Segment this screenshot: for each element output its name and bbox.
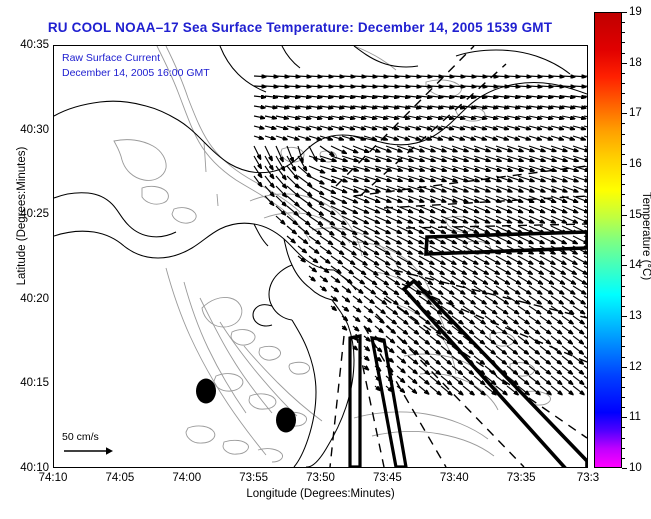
current-vector-arrow — [584, 306, 587, 314]
radar-station-marker — [276, 408, 296, 433]
x-tick-label: 73:45 — [373, 472, 402, 484]
x-axis-title: Longitude (Degrees:Minutes) — [53, 488, 588, 500]
current-vector-arrow — [298, 176, 312, 186]
current-vector-arrow — [375, 106, 388, 108]
current-vector-arrow — [573, 136, 585, 140]
current-vector-arrow — [397, 106, 410, 108]
current-vector-arrow — [342, 136, 354, 140]
current-vector-arrow — [309, 256, 318, 263]
x-tick-label: 73:3 — [577, 472, 599, 484]
arrow-right-icon — [62, 443, 118, 459]
current-vector-arrow — [397, 366, 405, 373]
current-vector-arrow — [584, 296, 587, 304]
current-vector-arrow — [529, 276, 543, 284]
current-vector-arrow — [551, 336, 561, 344]
figure-root: RU COOL NOAA–17 Sea Surface Temperature:… — [0, 0, 651, 519]
current-vector-arrow — [452, 136, 464, 140]
x-tick-label: 74:10 — [39, 472, 68, 484]
current-vector-arrow — [584, 386, 587, 395]
current-vector-arrow — [320, 126, 333, 129]
current-vector-arrow — [529, 296, 541, 304]
current-vector-arrow — [551, 136, 563, 140]
current-vector-arrow — [298, 246, 306, 253]
current-vector-arrow — [287, 136, 299, 140]
colorbar-minor-tick — [622, 245, 625, 246]
current-vector-arrow — [562, 116, 575, 119]
current-vector-arrow — [364, 346, 369, 351]
current-vector-arrow — [540, 126, 553, 129]
current-vector-arrow — [320, 146, 334, 156]
current-vector-arrow — [397, 266, 411, 275]
colorbar-minor-tick — [622, 123, 625, 124]
colorbar-minor-tick — [622, 458, 625, 459]
current-vector-arrow — [320, 226, 334, 235]
current-vector-arrow — [375, 96, 388, 97]
colorbar-minor-tick — [622, 448, 625, 449]
current-vector-arrow — [287, 126, 300, 129]
map-panel[interactable]: Raw Surface Current December 14, 2005 16… — [53, 45, 588, 468]
colorbar-tick-mark — [622, 468, 627, 469]
colorbar-minor-tick — [622, 154, 625, 155]
current-vector-arrow — [496, 286, 509, 294]
current-vector-arrow — [540, 296, 552, 304]
colorbar-minor-tick — [622, 438, 625, 439]
y-tick-label: 40:35 — [20, 39, 49, 51]
current-vector-arrow — [331, 276, 340, 282]
current-vector-arrow — [276, 116, 288, 119]
current-vector-arrow — [265, 126, 276, 129]
current-vector-arrow — [265, 106, 277, 108]
current-vector-arrow — [485, 126, 498, 129]
current-vector-arrow — [529, 116, 542, 119]
current-vector-arrow — [386, 106, 399, 108]
x-axis-ticks: 74:10 74:05 74:00 73:55 73:50 73:45 73:4… — [53, 470, 588, 490]
colorbar-minor-tick — [622, 103, 625, 104]
current-vector-arrow — [408, 106, 421, 108]
colorbar-minor-tick — [622, 377, 625, 378]
current-vector-arrow — [309, 116, 322, 119]
current-vector-arrow — [518, 116, 531, 119]
current-vector-arrow — [474, 306, 486, 314]
current-vector-arrow — [364, 96, 377, 97]
colorbar-tick-label: 11 — [629, 411, 641, 423]
current-vector-arrow — [320, 96, 333, 97]
current-vector-arrow — [364, 126, 377, 129]
current-vector-arrow — [584, 366, 587, 374]
current-vector-arrow — [397, 96, 410, 97]
current-vector-arrow — [496, 296, 508, 304]
current-vector-arrow — [507, 336, 517, 344]
current-vector-arrow — [331, 286, 338, 292]
current-vector-arrow — [540, 356, 550, 364]
current-vector-arrow — [441, 346, 451, 354]
vector-scale-label: 50 cm/s — [62, 431, 118, 443]
current-vector-arrow — [584, 356, 587, 364]
current-vector-arrow — [254, 96, 266, 97]
current-vector-arrow — [562, 336, 572, 344]
current-vector-arrow — [584, 346, 587, 354]
current-vector-arrow — [518, 316, 529, 324]
current-vector-arrow — [529, 326, 540, 334]
current-vector-arrow — [397, 296, 409, 304]
current-vector-arrow — [518, 126, 531, 129]
current-vector-arrow — [309, 146, 317, 161]
current-vector-arrow — [573, 386, 584, 395]
current-vector-arrow — [386, 316, 396, 324]
current-vector-arrow — [573, 106, 586, 108]
current-vector-arrow — [485, 116, 498, 119]
current-vector-arrow — [309, 276, 315, 281]
current-vector-arrow — [419, 366, 429, 374]
current-vector-arrow — [320, 286, 326, 291]
current-vector-arrow — [529, 356, 539, 364]
current-vector-arrow — [419, 326, 430, 334]
current-vector-arrow — [529, 126, 542, 129]
current-vector-arrow — [540, 136, 552, 140]
colorbar-tick-label: 19 — [629, 6, 642, 18]
current-vector-arrow — [309, 216, 323, 225]
current-vector-arrow — [485, 286, 498, 294]
colorbar-tick-label: 12 — [629, 361, 642, 373]
current-vector-arrow — [474, 296, 486, 304]
current-vector-arrow — [507, 116, 520, 119]
current-vector-arrow — [386, 136, 398, 140]
current-vector-arrow — [331, 116, 344, 119]
current-vector-arrow — [331, 246, 344, 254]
colorbar-minor-tick — [622, 53, 625, 54]
colorbar-tick-mark — [622, 265, 627, 266]
current-vector-arrow — [364, 276, 377, 285]
colorbar-minor-tick — [622, 296, 625, 297]
current-vector-arrow — [430, 346, 440, 354]
current-vector-arrow — [485, 346, 495, 354]
current-vector-arrow — [287, 186, 299, 197]
current-vector-arrow — [551, 96, 564, 97]
current-vector-arrow — [529, 336, 539, 344]
current-vector-arrow — [496, 126, 509, 129]
current-vector-arrow — [375, 326, 383, 333]
radar-beam-lines — [330, 46, 587, 467]
current-vector-arrow — [529, 366, 540, 374]
current-vector-arrow — [375, 286, 387, 295]
current-vector-arrow — [375, 116, 388, 119]
current-vector-arrow — [551, 386, 562, 395]
current-vector-arrow — [309, 106, 322, 108]
current-vector-arrow — [507, 346, 517, 354]
current-vector-arrow — [364, 356, 369, 360]
current-vector-arrow — [562, 296, 574, 304]
current-vector-arrow — [287, 196, 299, 206]
current-vector-arrow — [375, 296, 386, 304]
colorbar-minor-tick — [622, 174, 625, 175]
current-vector-arrow — [540, 276, 554, 284]
surface-current-vectors — [254, 76, 587, 395]
annotation-line-2: December 14, 2005 16:00 GMT — [62, 67, 210, 79]
colorbar[interactable] — [594, 12, 622, 468]
current-vector-arrow — [529, 286, 542, 294]
colorbar-minor-tick — [622, 255, 625, 256]
current-vector-arrow — [485, 326, 496, 334]
annotation-line-1: Raw Surface Current — [62, 52, 160, 64]
colorbar-minor-tick — [622, 184, 625, 185]
current-vector-arrow — [551, 286, 564, 294]
current-vector-arrow — [551, 326, 562, 334]
current-vector-arrow — [507, 286, 520, 294]
current-vector-arrow — [507, 96, 520, 97]
current-vector-arrow — [430, 286, 443, 294]
current-vector-arrow — [364, 296, 374, 303]
current-vector-arrow — [485, 136, 497, 140]
current-vector-arrow — [298, 186, 312, 196]
current-vector-arrow — [342, 256, 355, 264]
current-vector-arrow — [573, 116, 586, 119]
current-vector-arrow — [419, 126, 432, 129]
current-vector-arrow — [529, 136, 541, 140]
current-vector-arrow — [430, 356, 440, 364]
current-vector-arrow — [342, 306, 348, 311]
current-vector-arrow — [551, 106, 564, 108]
current-vector-arrow — [397, 316, 408, 324]
current-vector-arrow — [518, 376, 529, 384]
current-vector-arrow — [408, 96, 421, 97]
current-vector-arrow — [562, 106, 575, 108]
colorbar-minor-tick — [622, 235, 625, 236]
current-vector-arrow — [287, 236, 295, 243]
current-vector-arrow — [441, 136, 453, 140]
current-vector-arrow — [507, 356, 517, 364]
current-vector-arrow — [342, 126, 355, 129]
current-vector-arrow — [496, 136, 508, 140]
current-vector-arrow — [254, 86, 266, 87]
current-vector-arrow — [573, 96, 586, 97]
current-vector-arrow — [320, 236, 333, 244]
current-vector-arrow — [540, 286, 553, 294]
colorbar-minor-tick — [622, 275, 625, 276]
current-vector-arrow — [331, 236, 345, 245]
colorbar-tick-mark — [622, 12, 627, 13]
current-vector-arrow — [397, 136, 409, 140]
colorbar-minor-tick — [622, 83, 625, 84]
colorbar-minor-tick — [622, 134, 625, 135]
current-vector-arrow — [529, 306, 541, 314]
current-vector-arrow — [386, 336, 394, 343]
current-vector-arrow — [276, 216, 285, 224]
current-vector-arrow — [518, 346, 528, 354]
colorbar-tick-mark — [622, 316, 627, 317]
current-vector-arrow — [496, 356, 506, 364]
current-vector-arrow — [518, 96, 531, 97]
current-vector-arrow — [364, 316, 372, 322]
current-vector-arrow — [573, 376, 584, 384]
colorbar-minor-tick — [622, 336, 625, 337]
current-vector-arrow — [309, 136, 321, 140]
current-vector-arrow — [364, 366, 369, 370]
colorbar-minor-tick — [622, 427, 625, 428]
current-vector-arrow — [562, 136, 574, 140]
colorbar-minor-tick — [622, 194, 625, 195]
colorbar-tick-mark — [622, 113, 627, 114]
colorbar-minor-tick — [622, 407, 625, 408]
current-vector-arrow — [408, 386, 417, 393]
current-vector-arrow — [507, 296, 519, 304]
current-vector-arrow — [265, 196, 274, 205]
current-vector-arrow — [562, 316, 573, 324]
current-vector-arrow — [408, 116, 421, 119]
colorbar-tick-mark — [622, 417, 627, 418]
current-vector-arrow — [529, 376, 540, 384]
current-vector-arrow — [573, 286, 586, 294]
current-vector-arrow — [342, 266, 353, 274]
current-vector-arrow — [364, 306, 373, 313]
current-vector-arrow — [507, 316, 518, 324]
current-vector-arrow — [386, 306, 397, 314]
current-vector-arrow — [254, 176, 262, 187]
current-vector-arrow — [507, 126, 520, 129]
current-vector-arrow — [485, 306, 497, 314]
current-vector-arrow — [408, 376, 417, 383]
current-vector-arrow — [320, 246, 331, 254]
current-vector-arrow — [474, 326, 485, 334]
current-vector-arrow — [408, 326, 419, 334]
current-vector-arrow — [573, 276, 587, 284]
current-vector-arrow — [496, 306, 508, 314]
current-vector-arrow — [496, 106, 509, 108]
current-vector-arrow — [386, 116, 399, 119]
current-vector-arrow — [364, 286, 375, 294]
current-vector-arrow — [540, 326, 551, 334]
current-vector-arrow — [463, 116, 476, 119]
current-vector-arrow — [342, 276, 352, 283]
current-vector-arrow — [298, 226, 309, 234]
current-vector-arrow — [331, 96, 344, 97]
current-vector-arrow — [408, 316, 419, 324]
current-vector-arrow — [529, 346, 539, 354]
colorbar-minor-tick — [622, 22, 625, 23]
current-vector-arrow — [408, 356, 418, 364]
current-vector-arrow — [496, 116, 509, 119]
current-vector-arrow — [441, 286, 454, 294]
current-vector-arrow — [397, 376, 405, 382]
current-vector-arrow — [452, 366, 462, 374]
current-vector-arrow — [276, 136, 287, 140]
current-vector-arrow — [419, 386, 429, 394]
colorbar-minor-tick — [622, 73, 625, 74]
current-vector-arrow — [463, 136, 475, 140]
current-vector-arrow — [397, 276, 410, 284]
current-vector-arrow — [298, 206, 311, 216]
current-vector-arrow — [551, 356, 561, 364]
current-vector-arrow — [309, 246, 319, 253]
current-vector-arrow — [496, 276, 510, 284]
colorbar-title: Temperature (°C) — [640, 136, 651, 336]
current-vector-arrow — [419, 376, 429, 384]
current-vector-arrow — [562, 276, 576, 284]
current-vector-arrow — [540, 316, 551, 324]
current-vector-arrow — [364, 336, 370, 341]
current-vector-arrow — [331, 306, 336, 310]
figure-title: RU COOL NOAA–17 Sea Surface Temperature:… — [0, 20, 600, 35]
current-vector-arrow — [430, 376, 441, 385]
current-vector-arrow — [551, 366, 562, 374]
current-vector-arrow — [375, 126, 388, 129]
current-vector-arrow — [353, 276, 364, 284]
current-vector-arrow — [430, 386, 441, 395]
current-vector-arrow — [342, 116, 355, 119]
current-vector-arrow — [518, 366, 529, 374]
current-vector-arrow — [397, 346, 406, 353]
current-vector-arrow — [507, 106, 520, 108]
current-vector-arrow — [529, 96, 542, 97]
current-vector-arrow — [485, 296, 497, 304]
current-vector-arrow — [353, 316, 360, 321]
current-vector-arrow — [309, 126, 322, 129]
current-vector-arrow — [529, 106, 542, 108]
current-vector-arrow — [529, 316, 540, 324]
current-vector-arrow — [298, 216, 310, 225]
current-vector-arrow — [573, 336, 583, 344]
current-vector-arrow — [496, 346, 506, 354]
current-vector-arrow — [551, 126, 564, 129]
current-vector-arrow — [474, 136, 486, 140]
current-vector-arrow — [353, 116, 366, 119]
current-vector-arrow — [463, 126, 476, 129]
colorbar-tick-label: 10 — [629, 462, 642, 474]
current-vector-arrow — [419, 106, 432, 108]
current-vector-arrow — [474, 126, 487, 129]
current-vector-arrow — [573, 326, 584, 334]
current-vector-arrow — [540, 96, 553, 97]
current-vector-arrow — [320, 106, 333, 108]
current-vector-arrow — [573, 296, 585, 304]
x-tick-label: 73:35 — [507, 472, 536, 484]
colorbar-tick-mark — [622, 215, 627, 216]
y-tick-label: 40:15 — [20, 377, 49, 389]
current-vector-arrow — [452, 296, 464, 304]
colorbar-minor-tick — [622, 326, 625, 327]
current-vector-arrow — [265, 116, 277, 118]
current-vector-arrow — [518, 326, 529, 334]
current-vector-arrow — [584, 326, 587, 334]
current-vector-arrow — [309, 206, 323, 215]
current-vector-arrow — [331, 256, 342, 264]
current-vector-arrow — [430, 336, 440, 344]
current-vector-arrow — [375, 276, 388, 285]
x-tick-label: 74:00 — [172, 472, 201, 484]
current-vector-arrow — [320, 276, 327, 282]
current-vector-arrow — [353, 106, 366, 108]
current-vector-arrow — [562, 386, 573, 395]
current-vector-arrow — [540, 346, 550, 354]
current-vector-arrow — [430, 106, 443, 108]
colorbar-minor-tick — [622, 93, 625, 94]
current-vector-arrow — [397, 126, 410, 129]
current-vector-arrow — [562, 96, 575, 97]
current-vector-arrow — [573, 306, 585, 314]
current-vector-arrow — [408, 136, 420, 140]
current-vector-arrow — [463, 366, 473, 374]
current-vector-arrow — [562, 376, 573, 384]
current-vector-arrow — [485, 106, 498, 108]
current-vector-arrow — [353, 266, 366, 274]
current-vector-arrow — [430, 136, 442, 140]
current-vector-arrow — [507, 276, 521, 284]
current-vector-arrow — [276, 146, 283, 162]
current-vector-arrow — [276, 126, 288, 129]
colorbar-tick-label: 18 — [629, 57, 642, 69]
current-vector-arrow — [540, 376, 551, 384]
current-vector-arrow — [573, 126, 586, 129]
colorbar-minor-tick — [622, 357, 625, 358]
